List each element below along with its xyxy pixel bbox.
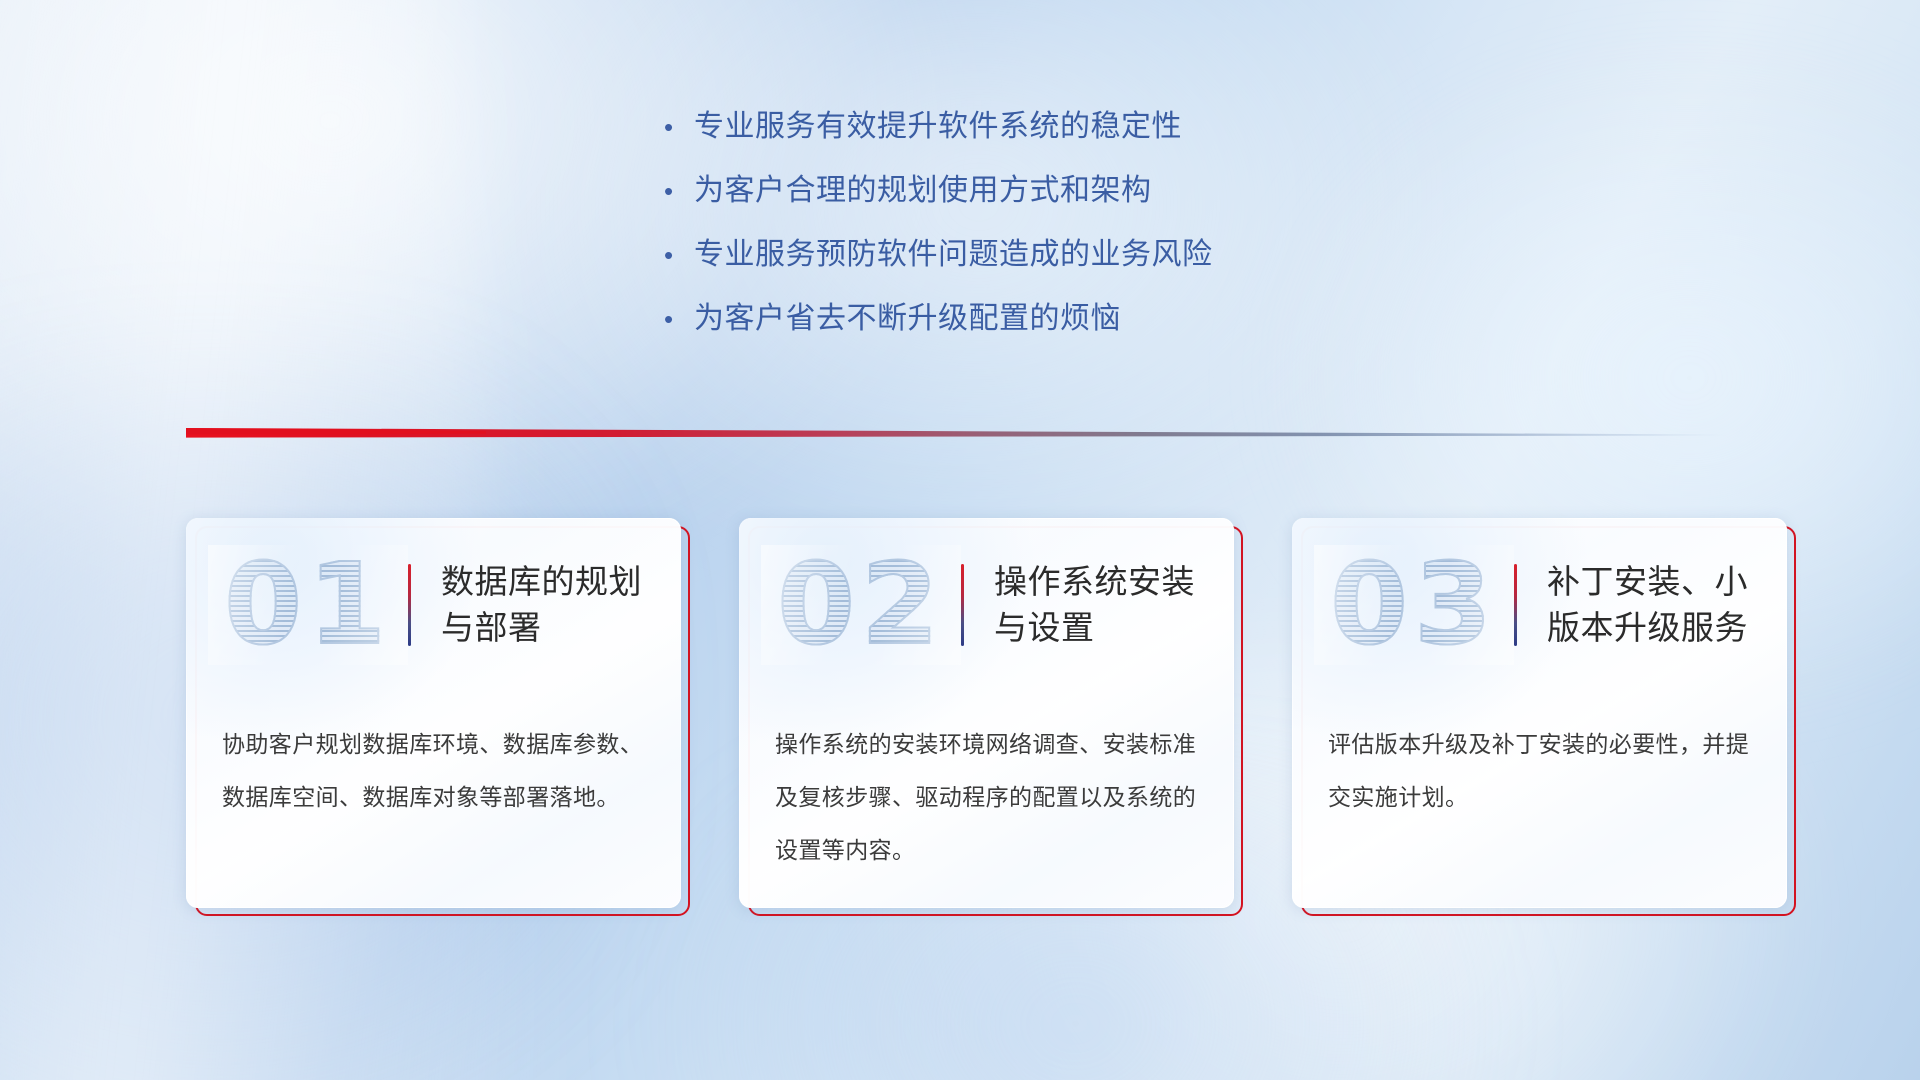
bullet-text: 为客户合理的规划使用方式和架构 — [694, 170, 1152, 212]
list-item: • 为客户合理的规划使用方式和架构 — [660, 170, 1460, 212]
card-accent-bar — [1514, 564, 1517, 646]
card-title: 操作系统安装与设置 — [994, 559, 1234, 651]
card-header: 03 03 补丁安装、小版本升级服务 — [1292, 540, 1787, 670]
bullet-marker-icon: • — [660, 170, 694, 212]
card-surface: 03 03 补丁安装、小版本升级服务 评估版本升级及补丁安装的必要性，并提交实施… — [1292, 518, 1787, 908]
benefits-bullet-list: • 专业服务有效提升软件系统的稳定性 • 为客户合理的规划使用方式和架构 • 专… — [660, 106, 1460, 362]
card-number-watermark: 02 02 — [761, 545, 961, 665]
list-item: • 专业服务有效提升软件系统的稳定性 — [660, 106, 1460, 148]
bullet-marker-icon: • — [660, 106, 694, 148]
card-title: 补丁安装、小版本升级服务 — [1547, 559, 1787, 651]
card-accent-bar — [961, 564, 964, 646]
bullet-marker-icon: • — [660, 298, 694, 340]
service-card-03[interactable]: 03 03 补丁安装、小版本升级服务 评估版本升级及补丁安装的必要性，并提交实施… — [1292, 518, 1787, 908]
card-surface: 01 01 数据库的规划与部署 协助客户规划数据库环境、数据库参数、数据库空间、… — [186, 518, 681, 908]
divider-wedge-icon — [186, 424, 1726, 446]
card-number-striped: 03 — [1314, 545, 1514, 665]
card-number-striped: 02 — [761, 545, 961, 665]
service-card-01[interactable]: 01 01 数据库的规划与部署 协助客户规划数据库环境、数据库参数、数据库空间、… — [186, 518, 681, 908]
list-item: • 为客户省去不断升级配置的烦恼 — [660, 298, 1460, 340]
card-number-watermark: 03 03 — [1314, 545, 1514, 665]
section-divider — [186, 424, 1726, 446]
card-surface: 02 02 操作系统安装与设置 操作系统的安装环境网络调查、安装标准及复核步骤、… — [739, 518, 1234, 908]
bullet-marker-icon: • — [660, 234, 694, 276]
card-header: 02 02 操作系统安装与设置 — [739, 540, 1234, 670]
card-description: 评估版本升级及补丁安装的必要性，并提交实施计划。 — [1328, 718, 1753, 824]
card-title: 数据库的规划与部署 — [441, 559, 681, 651]
card-accent-bar — [408, 564, 411, 646]
list-item: • 专业服务预防软件问题造成的业务风险 — [660, 234, 1460, 276]
card-number-striped: 01 — [208, 545, 408, 665]
service-card-list: 01 01 数据库的规划与部署 协助客户规划数据库环境、数据库参数、数据库空间、… — [186, 518, 1786, 918]
card-description: 操作系统的安装环境网络调查、安装标准及复核步骤、驱动程序的配置以及系统的设置等内… — [775, 718, 1200, 877]
card-description: 协助客户规划数据库环境、数据库参数、数据库空间、数据库对象等部署落地。 — [222, 718, 647, 824]
card-header: 01 01 数据库的规划与部署 — [186, 540, 681, 670]
bullet-text: 为客户省去不断升级配置的烦恼 — [694, 298, 1121, 340]
service-card-02[interactable]: 02 02 操作系统安装与设置 操作系统的安装环境网络调查、安装标准及复核步骤、… — [739, 518, 1234, 908]
bullet-text: 专业服务有效提升软件系统的稳定性 — [694, 106, 1182, 148]
card-number-watermark: 01 01 — [208, 545, 408, 665]
bullet-text: 专业服务预防软件问题造成的业务风险 — [694, 234, 1213, 276]
